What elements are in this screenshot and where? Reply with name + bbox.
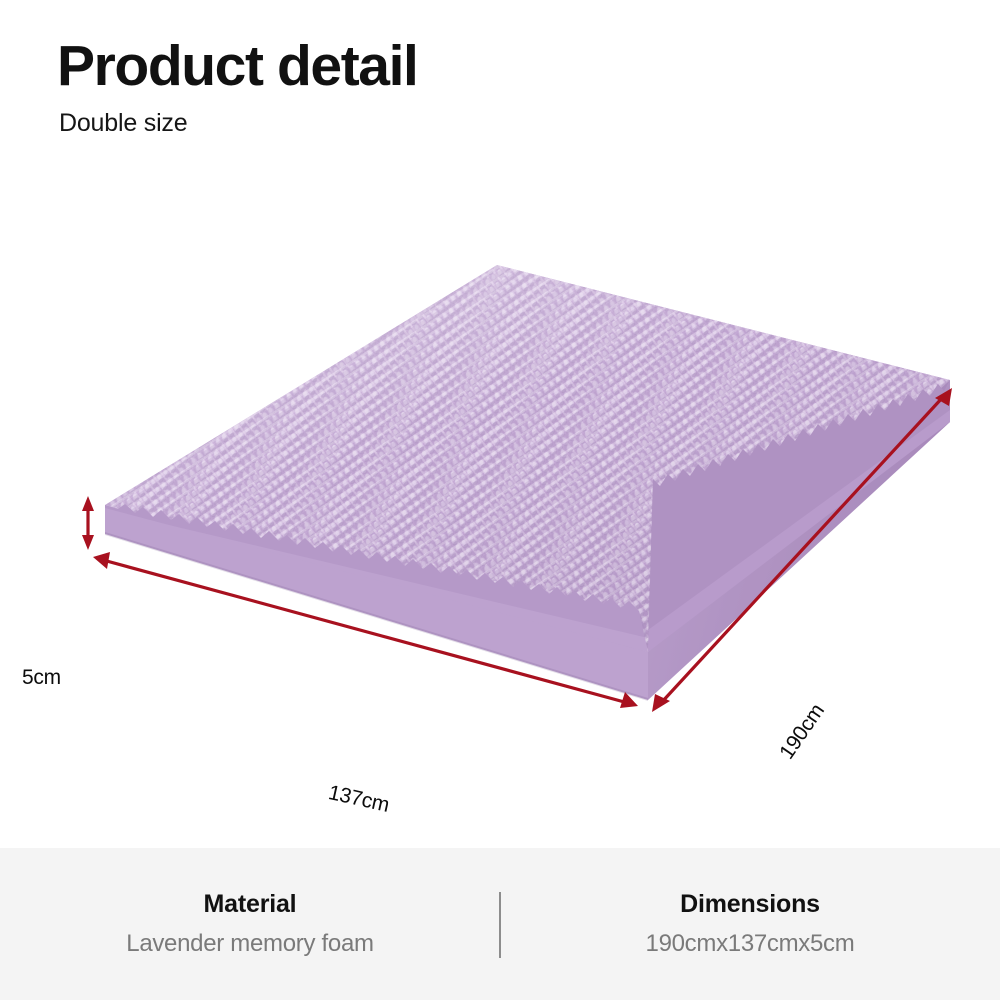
product-illustration: 5cm 137cm 190cm — [0, 160, 1000, 840]
spec-column-dimensions: Dimensions 190cmx137cmx5cm — [500, 848, 1000, 956]
page-title: Product detail — [57, 38, 757, 95]
spec-footer: Material Lavender memory foam Dimensions… — [0, 846, 1000, 1000]
spec-value-material: Lavender memory foam — [0, 932, 500, 956]
spec-divider — [499, 892, 501, 958]
product-detail-page: Product detail Double size — [0, 0, 1000, 1000]
product-foam-svg — [0, 160, 1000, 840]
spec-value-dimensions: 190cmx137cmx5cm — [500, 932, 1000, 956]
spec-title-dimensions: Dimensions — [500, 892, 1000, 917]
page-subtitle: Double size — [59, 111, 757, 136]
page-header: Product detail Double size — [57, 38, 757, 136]
height-dimension-label: 5cm — [22, 667, 61, 688]
spec-column-material: Material Lavender memory foam — [0, 848, 500, 956]
height-dimension-arrow — [82, 496, 94, 550]
spec-title-material: Material — [0, 892, 500, 917]
